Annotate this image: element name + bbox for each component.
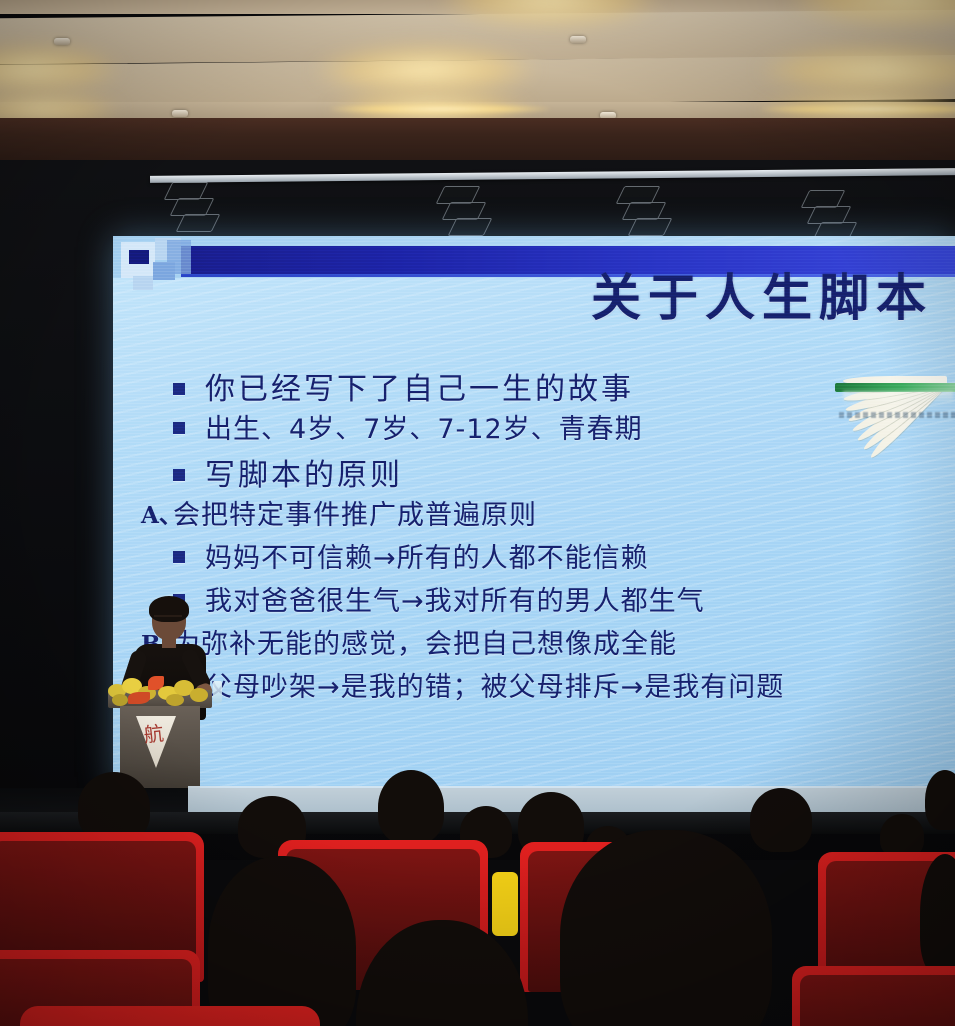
bullet-text: 父母吵架→是我的错；被父母排斥→是我有问题 — [205, 665, 784, 704]
upper-wall-band — [0, 118, 955, 166]
square-bullet-icon — [173, 551, 185, 563]
bouquet-icon — [104, 674, 220, 710]
slide-bullet-line: 我对爸爸很生气→我对所有的男人都生气 — [173, 579, 955, 619]
slide-bullet-line: 写脚本的原则 — [173, 450, 955, 490]
audience-head — [208, 856, 356, 1026]
slide-title: 关于人生脚本 — [273, 272, 933, 325]
square-bullet-icon — [173, 383, 185, 395]
photo-scene: 关于人生脚本 你已经写下了自己一生的故事 出生、4岁、7岁、7-12岁、青春期 … — [0, 0, 955, 1026]
slide-bullet-line: 你已经写下了自己一生的故事 — [173, 364, 955, 404]
projected-slide: 关于人生脚本 你已经写下了自己一生的故事 出生、4岁、7岁、7-12岁、青春期 … — [113, 236, 955, 788]
downlight-icon — [54, 38, 70, 45]
bullet-text: 为弥补无能的感觉，会把自己想像成全能 — [173, 622, 677, 661]
seat — [792, 966, 955, 1026]
bullet-text: 会把特定事件推广成普遍原则 — [173, 493, 537, 532]
audience-head — [925, 770, 955, 830]
mosaic-square — [167, 240, 191, 274]
glasses-icon — [154, 615, 182, 623]
slide-bullet-line: A、 会把特定事件推广成普遍原则 — [141, 493, 955, 533]
bullet-text: 出生、4岁、7岁、7-12岁、青春期 — [205, 407, 643, 446]
bullet-text: 妈妈不可信赖→所有的人都不能信赖 — [205, 536, 649, 575]
slide-bullet-line: B、 为弥补无能的感觉，会把自己想像成全能 — [141, 622, 955, 662]
bullet-text: 你已经写下了自己一生的故事 — [205, 364, 634, 408]
audience — [0, 770, 955, 1026]
audience-head — [750, 788, 812, 852]
square-bullet-icon — [173, 422, 185, 434]
podium-calligraphy: 航 — [143, 723, 168, 751]
downlight-icon — [570, 36, 586, 43]
slide-body: 你已经写下了自己一生的故事 出生、4岁、7岁、7-12岁、青春期 写脚本的原则 … — [173, 364, 955, 708]
cove-light-glow — [315, 44, 535, 96]
stage-light-icon — [168, 182, 222, 244]
bullet-text: 我对爸爸很生气→我对所有的男人都生气 — [205, 579, 705, 618]
slide-bullet-line: 妈妈不可信赖→所有的人都不能信赖 — [173, 536, 955, 576]
slide-bullet-line: 父母吵架→是我的错；被父母排斥→是我有问题 — [173, 665, 955, 705]
mosaic-square — [133, 276, 153, 290]
downlight-icon — [172, 110, 188, 117]
ceiling — [0, 0, 955, 122]
audience-head — [378, 770, 444, 844]
bullet-text: 写脚本的原则 — [205, 450, 403, 494]
seat — [20, 1006, 320, 1026]
square-bullet-icon — [173, 469, 185, 481]
slide-bullet-line: 出生、4岁、7岁、7-12岁、青春期 — [173, 407, 955, 447]
list-marker-a: A、 — [141, 496, 153, 530]
mosaic-square — [129, 250, 149, 264]
audience-yellow-shirt — [492, 872, 518, 936]
bottle-icon — [213, 681, 222, 703]
audience-head — [560, 830, 772, 1026]
cove-strip — [330, 104, 550, 114]
